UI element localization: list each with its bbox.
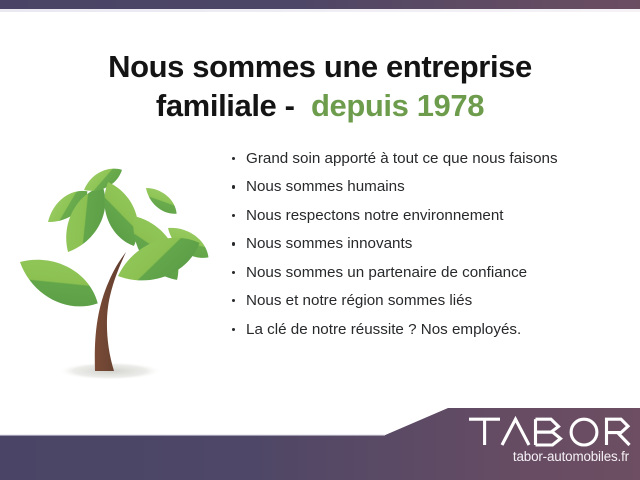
list-item-label: Nous et notre région sommes liés xyxy=(246,292,472,309)
page-title-line-2: familiale - depuis 1978 xyxy=(0,86,640,126)
list-item: Grand soin apporté à tout ce que nous fa… xyxy=(228,150,628,168)
brand-website[interactable]: tabor-automobiles.fr xyxy=(460,449,632,464)
list-item: Nous respectons notre environnement xyxy=(228,207,628,225)
bullet-dot-icon xyxy=(232,271,235,274)
bullet-dot-icon xyxy=(232,157,235,160)
family-tree-illustration xyxy=(10,150,225,390)
list-item: Nous sommes humains xyxy=(228,178,628,196)
footer-edge-highlight xyxy=(0,434,385,436)
list-item-label: La clé de notre réussite ? Nos employés. xyxy=(246,321,521,338)
value-list: Grand soin apporté à tout ce que nous fa… xyxy=(228,150,628,339)
page-title-line-1: Nous sommes une entreprise xyxy=(0,47,640,87)
page-title-accent: depuis 1978 xyxy=(311,88,484,123)
top-accent-bar xyxy=(0,0,640,9)
bullet-dot-icon xyxy=(232,185,235,188)
list-item-label: Nous respectons notre environnement xyxy=(246,207,504,224)
bullet-dot-icon xyxy=(232,328,235,331)
tree-leaf-top-small-right xyxy=(141,182,181,219)
list-item: Nous sommes un partenaire de confiance xyxy=(228,264,628,282)
tree-leaf-left-lower xyxy=(12,246,107,319)
page-title-line-2-prefix: familiale xyxy=(156,88,276,123)
list-item-label: Nous sommes innovants xyxy=(246,235,412,252)
bullet-dot-icon xyxy=(232,242,235,245)
list-item-label: Nous sommes un partenaire de confiance xyxy=(246,264,527,281)
tabor-wordmark-icon xyxy=(467,416,632,447)
top-accent-bar-sheen xyxy=(0,9,640,12)
list-item: La clé de notre réussite ? Nos employés. xyxy=(228,321,628,339)
list-item-label: Nous sommes humains xyxy=(246,178,405,195)
family-tree-icon xyxy=(10,150,225,390)
slide-canvas: Nous sommes une entreprise familiale - d… xyxy=(0,0,640,480)
bullet-dot-icon xyxy=(232,299,235,302)
bullet-dot-icon xyxy=(232,214,235,217)
page-title-dash xyxy=(276,88,284,123)
list-item: Nous et notre région sommes liés xyxy=(228,292,628,310)
list-item: Nous sommes innovants xyxy=(228,235,628,253)
list-item-label: Grand soin apporté à tout ce que nous fa… xyxy=(246,150,558,167)
footer-band: tabor-automobiles.fr xyxy=(0,405,640,480)
page-title-gap xyxy=(295,88,311,123)
page-title-dash-glyph: - xyxy=(285,88,295,123)
brand-logo[interactable]: tabor-automobiles.fr xyxy=(460,416,632,464)
page-title: Nous sommes une entreprise familiale - d… xyxy=(0,47,640,126)
